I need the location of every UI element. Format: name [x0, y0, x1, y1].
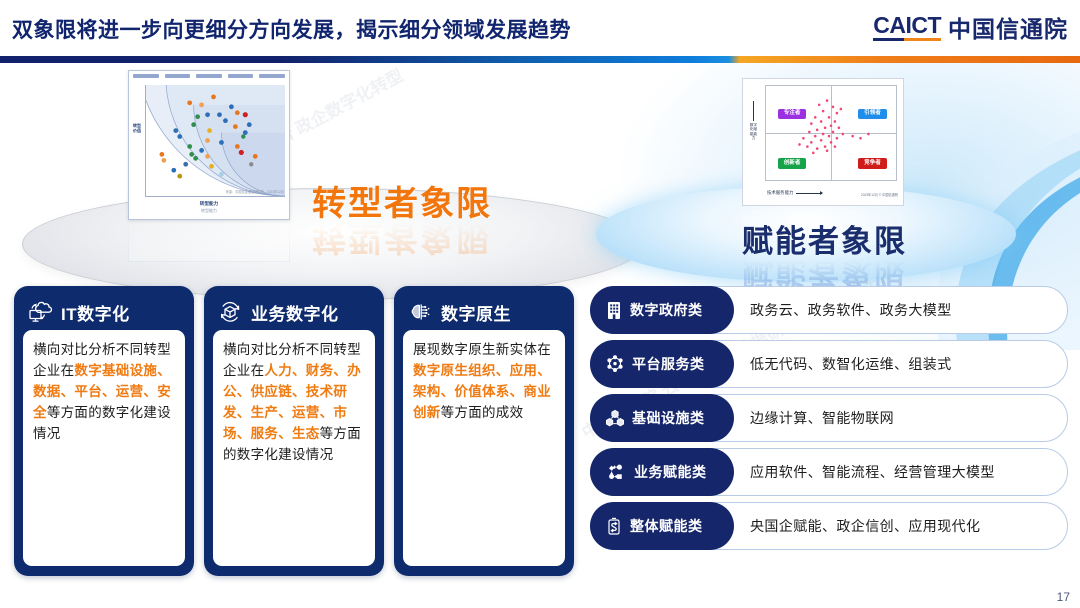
network-icon: [604, 353, 626, 375]
enabler-quadrant-chart[interactable]: 数字化赋能能力 专注者: [742, 78, 904, 206]
arrow-right-icon: [796, 193, 822, 194]
slide-header: 双象限将进一步向更细分方向发展，揭示细分领域发展趋势 CAICT 中国信通院: [0, 0, 1080, 56]
row-description: 边缘计算、智能物联网: [750, 394, 1052, 442]
page-title: 双象限将进一步向更细分方向发展，揭示细分领域发展趋势: [12, 14, 571, 44]
quadrant-label-focused: 专注者: [778, 109, 807, 120]
card-it-digitalization[interactable]: IT数字化 横向对比分析不同转型企业在数字基础设施、数据、平台、运营、安全等方面…: [14, 286, 194, 576]
chart-y-axis-label: 转型价值: [132, 123, 142, 133]
list-item[interactable]: 平台服务类 低无代码、数智化运维、组装式: [590, 340, 1068, 388]
card-body: 横向对比分析不同转型企业在人力、财务、办公、供应链、技术研发、生产、运营、市场、…: [213, 330, 375, 566]
row-label: 数字政府类: [630, 300, 703, 320]
row-pill-platform-service[interactable]: 平台服务类: [590, 340, 734, 388]
row-label: 平台服务类: [632, 354, 705, 374]
card-text-part: 等方面的成效: [441, 405, 524, 420]
card-title: IT数字化: [61, 300, 130, 325]
chart-plot-area: [145, 85, 285, 197]
logo-name: 中国信通院: [948, 18, 1068, 41]
chart-x-axis-label-wrap: 技术服务能力: [767, 190, 822, 196]
list-item[interactable]: 业务赋能类 应用软件、智能流程、经营管理大模型: [590, 448, 1068, 496]
card-body: 横向对比分析不同转型企业在数字基础设施、数据、平台、运营、安全等方面的数字化建设…: [23, 330, 185, 566]
row-description: 政务云、政务软件、政务大模型: [750, 286, 1052, 334]
chart-plot-area: 专注者 引领者 创新者 竞争者: [765, 85, 897, 181]
quadrant-label-challenger: 竞争者: [858, 158, 887, 169]
card-business-digitalization[interactable]: 业务数字化 横向对比分析不同转型企业在人力、财务、办公、供应链、技术研发、生产、…: [204, 286, 384, 576]
building-icon: [604, 299, 624, 321]
page-number: 17: [1057, 590, 1070, 604]
row-description: 低无代码、数智化运维、组装式: [750, 340, 1052, 388]
right-showcase-title: 赋能者象限: [742, 216, 907, 261]
card-title: 数字原生: [441, 300, 511, 325]
logo-mark-text: CAICT: [873, 12, 941, 38]
cubes-icon: [604, 407, 626, 429]
card-header: 数字原生: [403, 294, 565, 330]
chart-svg: [146, 85, 285, 196]
list-item[interactable]: 整体赋能类 央国企赋能、政企信创、应用现代化: [590, 502, 1068, 550]
battery-icon: [604, 515, 624, 537]
transformer-quadrant-chart[interactable]: 转型价值: [128, 70, 290, 220]
card-text-part: 等方面的数字化建设情况: [33, 405, 171, 441]
card-header: IT数字化: [23, 294, 185, 330]
left-showcase-title: 转型者象限: [312, 176, 492, 225]
brain-ai-icon: [406, 299, 434, 325]
box-cycle-icon: [216, 299, 244, 325]
dimension-cards: IT数字化 横向对比分析不同转型企业在数字基础设施、数据、平台、运营、安全等方面…: [14, 286, 576, 576]
row-label: 整体赋能类: [630, 516, 703, 536]
chart-x-axis-label: 转型能力: [129, 201, 289, 207]
chart-x-axis-sublabel: 转型能力: [129, 208, 289, 214]
list-item[interactable]: 数字政府类 政务云、政务软件、政务大模型: [590, 286, 1068, 334]
chart-y-axis-label: 数字化赋能能力: [749, 123, 758, 141]
list-item[interactable]: 基础设施类 边缘计算、智能物联网: [590, 394, 1068, 442]
quadrant-label-leader: 引领者: [858, 109, 887, 120]
caict-logo: CAICT 中国信通院: [873, 14, 1068, 41]
enabler-category-list: 数字政府类 政务云、政务软件、政务大模型 平台服务类: [590, 286, 1068, 550]
row-pill-overall-enablement[interactable]: 整体赋能类: [590, 502, 734, 550]
card-text-part: 展现数字原生新实体在: [413, 342, 551, 357]
chart-source-note: 2023年12月 © 中国信通院: [861, 192, 898, 197]
left-chart-reflection: [128, 218, 290, 262]
chart-source-note: 来源：中国信息通信研究院，2023年12月: [226, 189, 284, 194]
chart-y-axis-arrow: [753, 101, 754, 121]
row-pill-infrastructure[interactable]: 基础设施类: [590, 394, 734, 442]
slide-root: 中国信通院 云计算与大数据研究所 政企数字化转型 中国信通院 云计算与大数据研究…: [0, 0, 1080, 608]
header-accent-bar: [0, 56, 1080, 63]
row-label: 业务赋能类: [634, 462, 707, 482]
row-description: 央国企赋能、政企信创、应用现代化: [750, 502, 1052, 550]
cloud-monitor-icon: [26, 299, 54, 325]
card-title: 业务数字化: [251, 300, 339, 325]
card-body: 展现数字原生新实体在数字原生组织、应用、架构、价值体系、商业创新等方面的成效: [403, 330, 565, 566]
quadrant-label-innovator: 创新者: [778, 158, 807, 169]
chart-x-axis-label: 技术服务能力: [767, 190, 793, 196]
flow-nodes-icon: [604, 461, 628, 483]
row-description: 应用软件、智能流程、经营管理大模型: [750, 448, 1052, 496]
row-label: 基础设施类: [632, 408, 705, 428]
logo-underline: [873, 38, 941, 41]
logo-mark: CAICT: [873, 14, 941, 41]
row-pill-digital-government[interactable]: 数字政府类: [590, 286, 734, 334]
row-pill-business-enablement[interactable]: 业务赋能类: [590, 448, 734, 496]
card-header: 业务数字化: [213, 294, 375, 330]
chart-tab-strip: [133, 74, 285, 83]
card-digital-native[interactable]: 数字原生 展现数字原生新实体在数字原生组织、应用、架构、价值体系、商业创新等方面…: [394, 286, 574, 576]
